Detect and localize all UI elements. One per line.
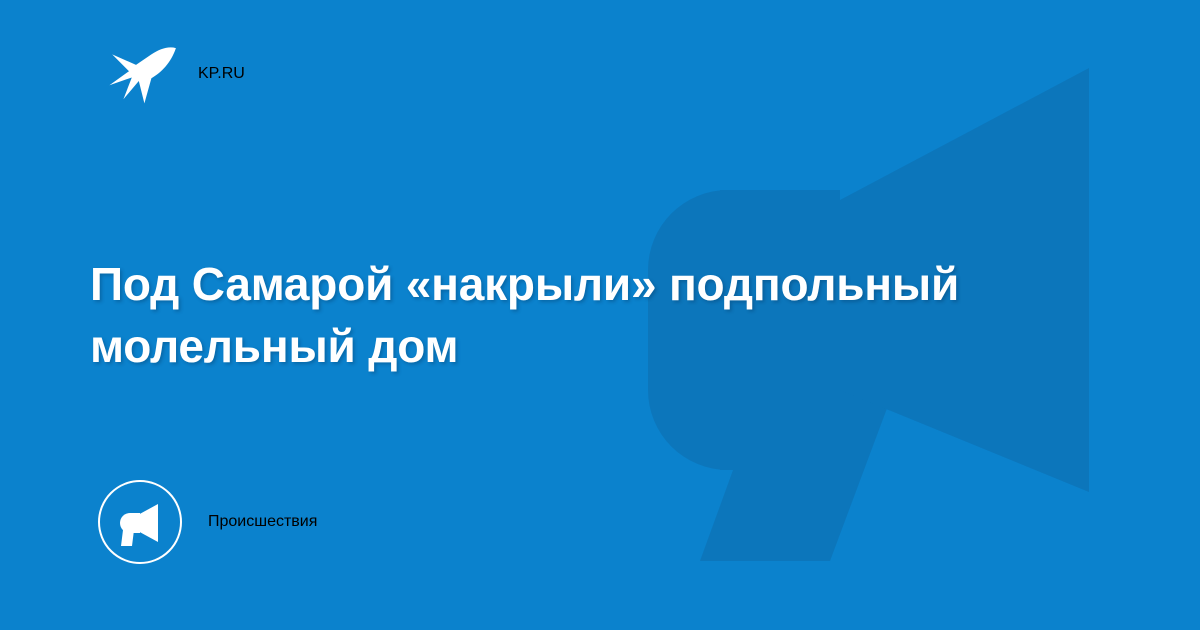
category-badge[interactable]: Происшествия: [96, 478, 317, 566]
megaphone-watermark-handle: [700, 360, 905, 561]
megaphone-icon: [96, 478, 184, 566]
brand-name: KP.RU: [198, 65, 245, 83]
site-header: KP.RU: [108, 38, 245, 110]
page-title: Под Самарой «накрыли» подпольный молельн…: [90, 253, 990, 378]
category-label: Происшествия: [208, 513, 317, 531]
swallow-bird-icon[interactable]: [108, 39, 178, 109]
social-share-card: KP.RU Под Самарой «накрыли» подпольный м…: [0, 0, 1200, 630]
